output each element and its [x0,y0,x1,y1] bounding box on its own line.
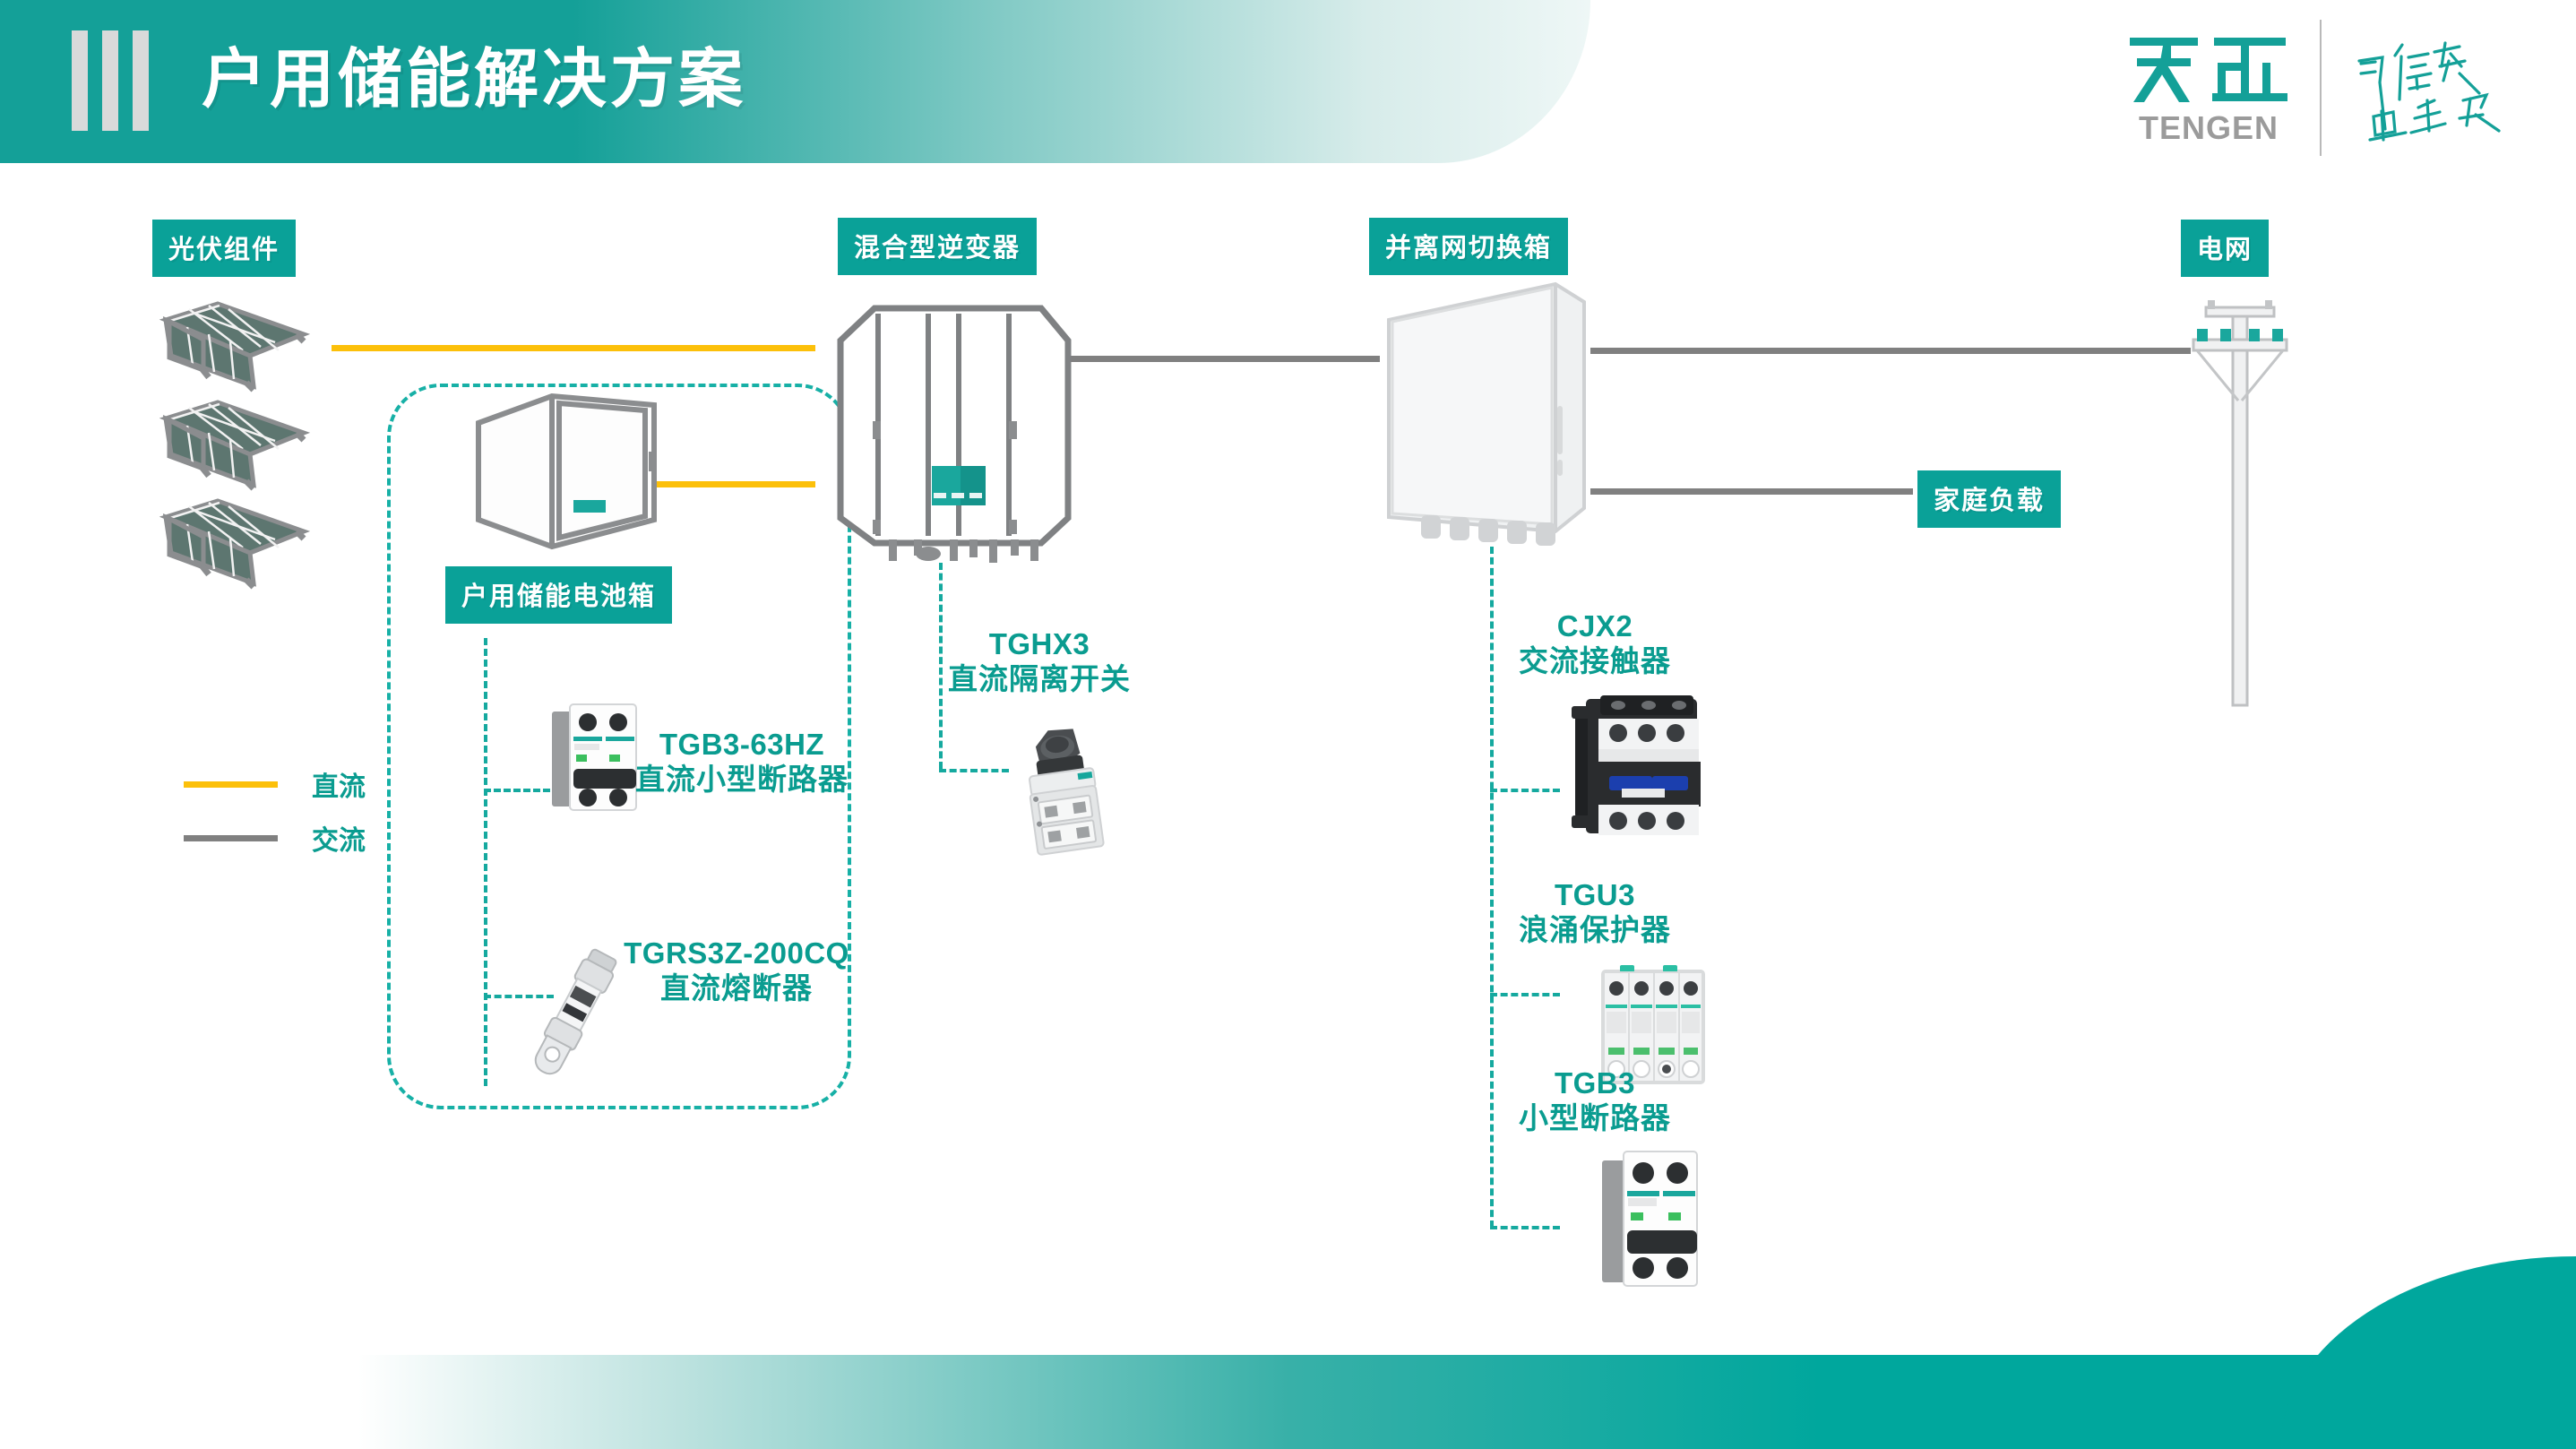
wire-ac-inverter-to-switchbox [1062,356,1380,362]
tengen-cn-wordmark-icon [2128,29,2289,108]
solar-panel-group [157,300,336,596]
footer-band [358,1355,2576,1449]
stage-tag-inverter: 混合型逆变器 [838,218,1037,275]
component-label-tgu3: TGU3 浪涌保护器 [1469,878,1720,948]
legend: 直流 交流 [184,757,366,865]
brand-divider [2320,20,2322,156]
battery-branch-to-mcb [484,789,550,792]
mcb-icon [1597,1143,1704,1295]
header-bar-2 [102,30,118,131]
ac-line-swatch-icon [184,835,278,841]
legend-label-dc: 直流 [312,764,366,804]
dc-isolator-icon [1011,708,1109,860]
header-bar-3 [133,30,149,131]
wire-ac-switchbox-to-grid [1590,348,2191,354]
component-label-tgb3: TGB3 小型断路器 [1469,1066,1720,1136]
legend-label-ac: 交流 [312,818,366,858]
brand-logo-en: TENGEN [2139,109,2279,147]
stage-tag-pv: 光伏组件 [152,220,296,277]
component-label-tgrs3z-200cq: TGRS3Z-200CQ 直流熔断器 [602,936,871,1006]
utility-pole-icon [2168,300,2312,712]
legend-item-ac: 交流 [184,811,366,865]
hybrid-inverter-icon [833,296,1075,556]
ac-contactor-icon [1570,690,1713,842]
wire-ac-switchbox-to-home-load [1590,488,1913,495]
stage-tag-grid: 电网 [2181,220,2269,277]
brand-logo-mark: TENGEN [2128,29,2289,147]
solar-panel-icon [166,501,304,587]
header-bars-decoration [72,30,149,131]
solar-panel-icon [166,402,304,488]
solar-panel-icon [166,304,304,390]
brand-logo: TENGEN [2128,20,2522,156]
switchbox-branch-to-mcb [1490,1226,1560,1229]
footer-corner-decoration [2280,1256,2576,1449]
component-label-cjx2: CJX2 交流接触器 [1469,609,1720,679]
battery-branch-trunk [484,638,487,1086]
page-title: 户用储能解决方案 [202,27,746,133]
switchbox-branch-to-contactor [1490,789,1560,792]
battery-cabinet-icon [466,385,663,565]
dc-line-swatch-icon [184,781,278,788]
component-label-tgb3-63hz: TGB3-63HZ 直流小型断路器 [616,728,867,798]
switchbox-branch-to-spd [1490,993,1560,996]
inverter-branch-to-isolator [939,769,1009,772]
switch-cabinet-icon [1380,273,1595,560]
stage-tag-switchbox: 并离网切换箱 [1369,218,1568,275]
wire-dc-pv-to-inverter [332,345,815,351]
header-bar-1 [72,30,88,131]
legend-item-dc: 直流 [184,757,366,811]
stage-tag-home-load: 家庭负载 [1917,470,2061,528]
brand-tagline-handwriting-icon [2352,34,2522,142]
component-label-tghx3: TGHX3 直流隔离开关 [905,627,1174,697]
